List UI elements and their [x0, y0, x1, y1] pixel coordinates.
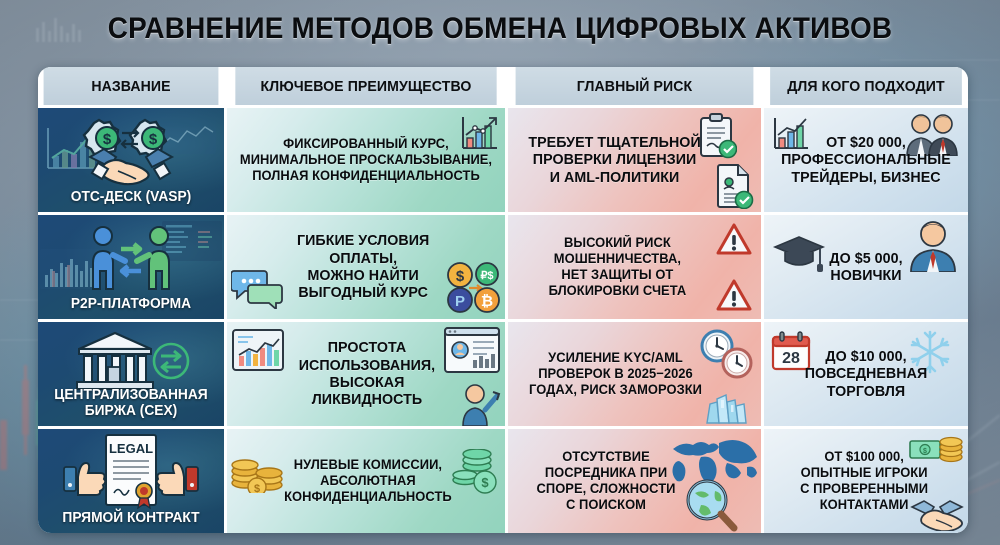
row-risk-cell-direct: ОТСУТСТВИЕ ПОСРЕДНИКА ПРИ СПОРЕ, СЛОЖНОС… — [508, 429, 761, 533]
row-risk-text: ОТСУТСТВИЕ ПОСРЕДНИКА ПРИ СПОРЕ, СЛОЖНОС… — [514, 449, 754, 512]
mini-chart-icon — [40, 249, 102, 289]
row-name-cell-p2p: P2P-ПЛАТФОРМА — [38, 215, 224, 319]
row-risk-text: УСИЛЕНИЕ KYC/AML ПРОВЕРОК В 2025−2026 ГО… — [514, 350, 754, 397]
row-name-cell-otc: $ $ OTC-ДЕСК (VASP) — [38, 108, 224, 212]
svg-text:LEGAL: LEGAL — [109, 441, 153, 456]
row-risk-cell-cex: УСИЛЕНИЕ KYC/AML ПРОВЕРОК В 2025−2026 ГО… — [508, 322, 761, 426]
row-benefit-text: ГИБКИЕ УСЛОВИЯ ОПЛАТЫ, МОЖНО НАЙТИ ВЫГОД… — [234, 232, 498, 302]
comparison-table: НАЗВАНИЕ КЛЮЧЕВОЕ ПРЕИМУЩЕСТВО ГЛАВНЫЙ Р… — [38, 67, 968, 533]
row-risk-text: ТРЕБУЕТ ТЩАТЕЛЬНОЙ ПРОВЕРКИ ЛИЦЕНЗИИ И A… — [514, 134, 754, 186]
row-benefit-cell-direct: $ $ НУЛЕВЫЕ КОМИССИИ, АБСОЛЮТ — [227, 429, 505, 533]
table-row: LEGAL — [38, 429, 968, 533]
row-audience-text: ОТ $100 000, ОПЫТНЫЕ ИГРОКИ С ПРОВЕРЕННЫ… — [769, 449, 963, 512]
row-benefit-cell-p2p: $ ₽$ P ₿ ГИБКИЕ УСЛОВИЯ ОПЛАТЫ, МОЖНО НА… — [227, 215, 505, 319]
column-header-name: НАЗВАНИЕ — [44, 67, 219, 105]
column-header-audience: ДЛЯ КОГО ПОДХОДИТ — [770, 67, 962, 105]
row-audience-cell-otc: ОТ $20 000, ПРОФЕССИОНАЛЬНЫЕ ТРЕЙДЕРЫ, Б… — [764, 108, 968, 212]
row-name-label: ЦЕНТРАЛИЗОВАННАЯ БИРЖА (CEX) — [48, 387, 213, 419]
row-risk-text: ВЫСОКИЙ РИСК МОШЕННИЧЕСТВА, НЕТ ЗАЩИТЫ О… — [514, 235, 754, 298]
row-benefit-text: НУЛЕВЫЕ КОМИССИИ, АБСОЛЮТНАЯ КОНФИДЕНЦИА… — [234, 457, 498, 504]
row-name-label: OTC-ДЕСК (VASP) — [48, 189, 213, 205]
line-chart-icon — [158, 120, 216, 154]
row-audience-text: ДО $10 000, ПОВСЕДНЕВНАЯ ТОРГОВЛЯ — [769, 348, 963, 400]
column-header-risk: ГЛАВНЫЙ РИСК — [516, 67, 754, 105]
row-benefit-text: ПРОСТОТА ИСПОЛЬЗОВАНИЯ, ВЫСОКАЯ ЛИКВИДНО… — [234, 339, 498, 409]
table-row: $ $ OTC-ДЕСК (VASP) — [38, 108, 968, 212]
table-row: P2P-ПЛАТФОРМА $ ₽$ P — [38, 215, 968, 319]
row-audience-cell-p2p: ДО $5 000, НОВИЧКИ — [764, 215, 968, 319]
table-header-row: НАЗВАНИЕ КЛЮЧЕВОЕ ПРЕИМУЩЕСТВО ГЛАВНЫЙ Р… — [38, 67, 968, 105]
row-risk-cell-p2p: ВЫСОКИЙ РИСК МОШЕННИЧЕСТВА, НЕТ ЗАЩИТЫ О… — [508, 215, 761, 319]
table-body: $ $ OTC-ДЕСК (VASP) — [38, 105, 968, 533]
svg-text:$: $ — [103, 131, 112, 148]
row-audience-cell-direct: $ ОТ $100 000, ОПЫТ — [764, 429, 968, 533]
data-panel-icon — [162, 221, 222, 261]
row-benefit-text: ФИКСИРОВАННЫЙ КУРС, МИНИМАЛЬНОЕ ПРОСКАЛЬ… — [234, 136, 498, 183]
row-name-cell-cex: ЦЕНТРАЛИЗОВАННАЯ БИРЖА (CEX) — [38, 322, 224, 426]
growth-chart-icon — [44, 124, 104, 172]
page-title: СРАВНЕНИЕ МЕТОДОВ ОБМЕНА ЦИФРОВЫХ АКТИВО… — [35, 12, 965, 46]
svg-text:$: $ — [149, 131, 158, 148]
row-name-label: ПРЯМОЙ КОНТРАКТ — [48, 510, 213, 526]
row-audience-text: ОТ $20 000, ПРОФЕССИОНАЛЬНЫЕ ТРЕЙДЕРЫ, Б… — [769, 134, 963, 186]
row-audience-cell-cex: 28 ДО $10 000, ПОВСЕДНЕВНАЯ ТОРГОВЛЯ — [764, 322, 968, 426]
row-benefit-cell-otc: ФИКСИРОВАННЫЙ КУРС, МИНИМАЛЬНОЕ ПРОСКАЛЬ… — [227, 108, 505, 212]
table-row: ЦЕНТРАЛИЗОВАННАЯ БИРЖА (CEX) — [38, 322, 968, 426]
row-name-label: P2P-ПЛАТФОРМА — [48, 296, 213, 312]
row-benefit-cell-cex: ПРОСТОТА ИСПОЛЬЗОВАНИЯ, ВЫСОКАЯ ЛИКВИДНО… — [227, 322, 505, 426]
row-audience-text: ДО $5 000, НОВИЧКИ — [769, 250, 963, 285]
row-name-cell-direct: LEGAL — [38, 429, 224, 533]
infographic-canvas: СРАВНЕНИЕ МЕТОДОВ ОБМЕНА ЦИФРОВЫХ АКТИВО… — [0, 0, 1000, 545]
column-header-benefit: КЛЮЧЕВОЕ ПРЕИМУЩЕСТВО — [235, 67, 496, 105]
row-risk-cell-otc: ТРЕБУЕТ ТЩАТЕЛЬНОЙ ПРОВЕРКИ ЛИЦЕНЗИИ И A… — [508, 108, 761, 212]
